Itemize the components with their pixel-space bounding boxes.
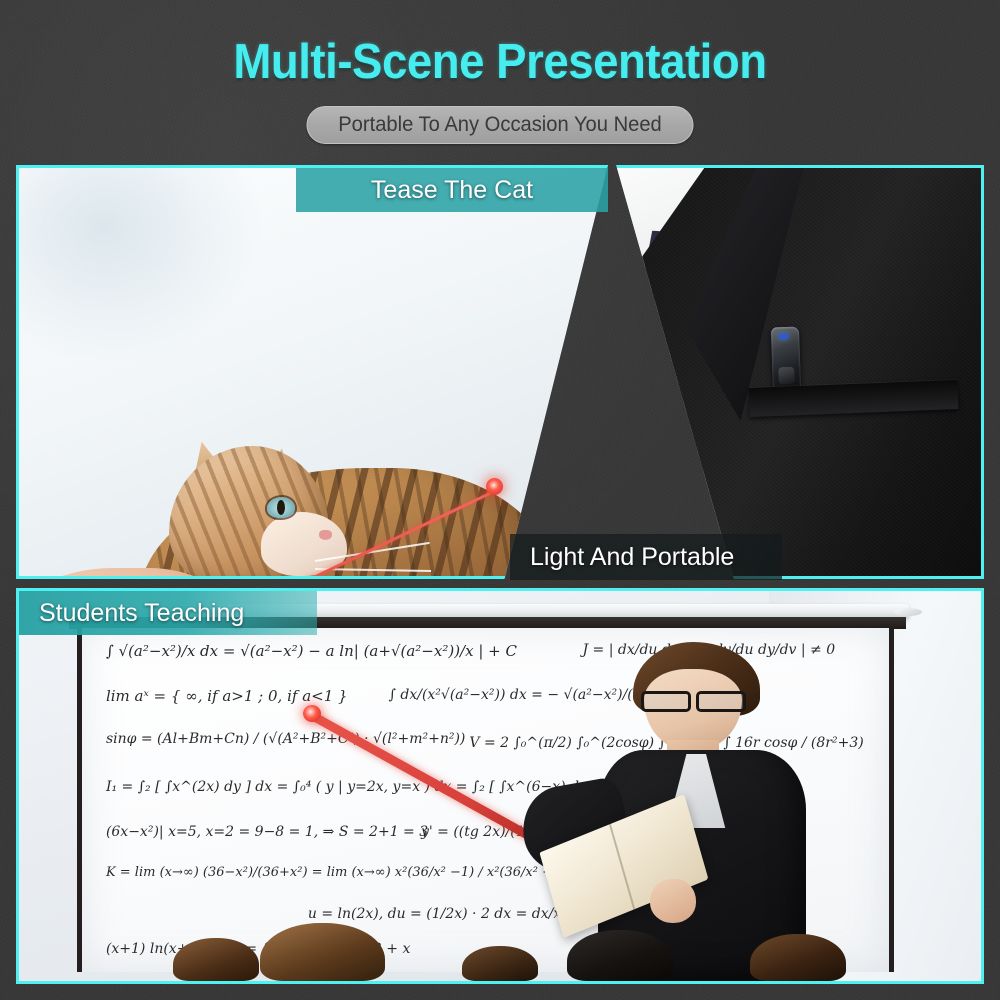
panel-label-light-and-portable: Light And Portable [510, 534, 782, 580]
panel-label-text: Light And Portable [530, 543, 734, 572]
panel-label-tease-the-cat: Tease The Cat [296, 168, 608, 212]
cat-eye [267, 497, 295, 518]
subtitle-text: Portable To Any Occasion You Need [338, 113, 662, 137]
product-poster: Multi-Scene Presentation Portable To Any… [0, 0, 1000, 1000]
teacher-hand [650, 879, 696, 923]
glasses-icon [639, 691, 749, 707]
cat-nose [319, 530, 332, 540]
whiteboard-formula: lim aˣ = { ∞, if a>1 ; 0, if a<1 } [106, 687, 348, 705]
whiteboard-formula: (6x−x²)| x=5, x=2 = 9−8 = 1, ⇒ S = 2+1 =… [106, 824, 428, 840]
whiteboard-formula: ∫ √(a²−x²)/x dx = √(a²−x²) − a ln| (a+√(… [106, 642, 517, 660]
laser-dot [486, 478, 503, 495]
presenter-remote-in-pocket [770, 327, 800, 393]
student-head [750, 934, 846, 981]
panel-label-text: Tease The Cat [371, 176, 533, 205]
poster-header: Multi-Scene Presentation Portable To Any… [0, 0, 1000, 160]
page-title: Multi-Scene Presentation [35, 34, 965, 90]
panel-light-and-portable [604, 165, 984, 579]
student-head [567, 930, 673, 981]
panel-label-students-teaching: Students Teaching [19, 591, 317, 635]
panel-label-text: Students Teaching [39, 599, 244, 628]
subtitle-pill: Portable To Any Occasion You Need [306, 106, 693, 144]
status-led [779, 334, 788, 340]
whiteboard-formula: u = ln(2x), du = (1/2x) · 2 dx = dx/x [308, 906, 561, 922]
panel-tease-the-cat: ∧ ∨ [16, 165, 608, 579]
panel-students-teaching: ∫ √(a²−x²)/x dx = √(a²−x²) − a ln| (a+√(… [16, 588, 984, 984]
whiteboard-formula: sinφ = (Al+Bm+Cn) / (√(A²+B²+C²) · √(l²+… [106, 731, 465, 747]
cat-whisker [315, 576, 430, 579]
